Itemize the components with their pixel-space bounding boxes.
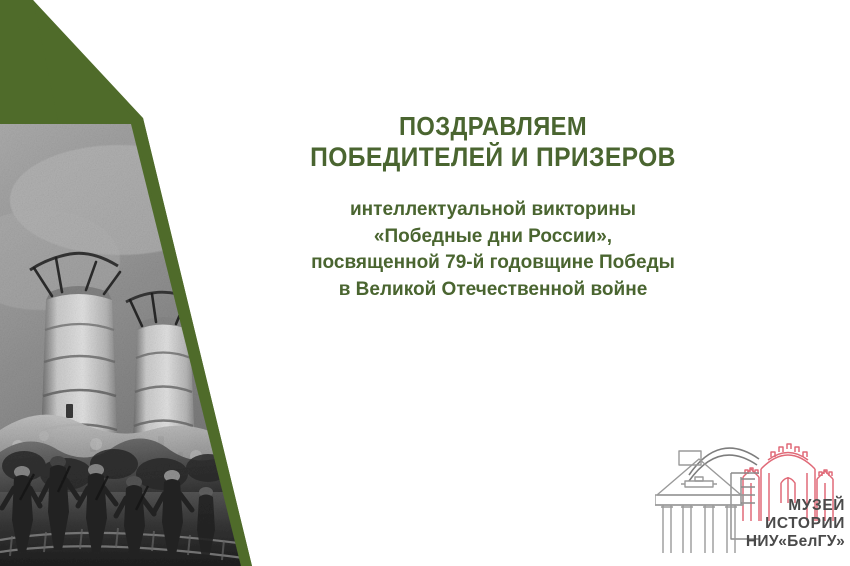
poster-text-block: ПОЗДРАВЛЯЕМ ПОБЕДИТЕЛЕЙ И ПРИЗЕРОВ интел… [268,112,718,302]
left-decorative-panel [0,0,270,566]
logo-text-line-1: МУЗЕЙ [788,496,845,514]
logo-text-line-3: НИУ«БелГУ» [746,533,845,550]
subtitle-line-1: интеллектуальной викторины [275,196,712,223]
headline-line-2: ПОБЕДИТЕЛЕЙ И ПРИЗЕРОВ [284,142,703,172]
headline-group: ПОЗДРАВЛЯЕМ ПОБЕДИТЕЛЕЙ И ПРИЗЕРОВ [268,112,718,172]
poster-canvas: ПОЗДРАВЛЯЕМ ПОБЕДИТЕЛЕЙ И ПРИЗЕРОВ интел… [0,0,850,566]
logo-text-line-2: ИСТОРИИ [765,515,845,532]
subtitle-line-3: посвященной 79-й годовщине Победы [275,249,712,276]
museum-logo: МУЗЕЙ ИСТОРИИ НИУ«БелГУ» [655,421,847,556]
subtitle-line-4: в Великой Отечественной войне [275,276,712,303]
portico-icon [655,451,743,553]
subtitle-group: интеллектуальной викторины «Победные дни… [268,196,718,302]
headline-line-1: ПОЗДРАВЛЯЕМ [284,112,703,142]
subtitle-line-2: «Победные дни России», [275,223,712,250]
